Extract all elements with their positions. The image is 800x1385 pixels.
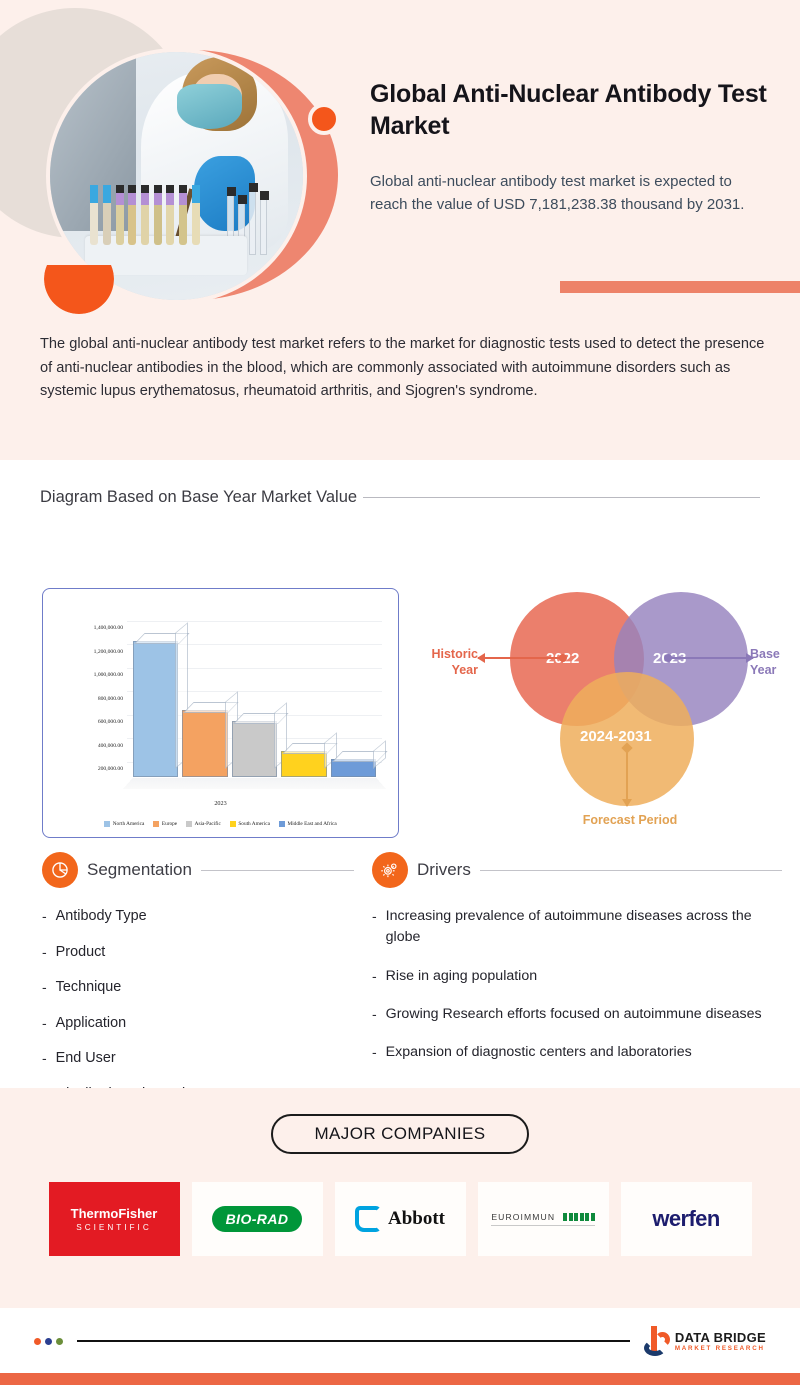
bar <box>281 751 326 777</box>
pie-chart-icon <box>42 852 78 888</box>
dash-bullet-icon: - <box>372 1042 377 1063</box>
data-bridge-logo-icon <box>644 1326 670 1356</box>
company-logos-row: ThermoFisher SCIENTIFIC BIO-RAD Abbott E… <box>0 1182 800 1256</box>
divider <box>201 870 354 871</box>
segmentation-list: -Antibody Type-Product-Technique-Applica… <box>42 906 354 1106</box>
segmentation-item: -Technique <box>42 977 354 999</box>
decorative-orange-halfcircle <box>44 244 114 314</box>
bar <box>331 759 376 777</box>
footer-dot <box>34 1338 41 1345</box>
segmentation-item: -Product <box>42 942 354 964</box>
dash-bullet-icon: - <box>372 1004 377 1025</box>
hero-text-block: Global Anti-Nuclear Antibody Test Market… <box>370 78 770 217</box>
legend-swatch <box>104 821 110 827</box>
legend-label: Europe <box>162 821 177 827</box>
legend-label: Asia-Pacific <box>195 821 221 827</box>
legend-swatch <box>153 821 159 827</box>
footer-divider <box>77 1340 630 1342</box>
legend-item: Europe <box>153 821 177 827</box>
drivers-item: -Rise in aging population <box>372 966 782 987</box>
chart-bars <box>127 623 382 777</box>
venn-caption-base: Base Year <box>750 646 796 679</box>
brand-tagline: MARKET RESEARCH <box>675 1345 766 1352</box>
y-tick-label: 600,000.00 <box>51 719 123 743</box>
dash-bullet-icon: - <box>372 906 377 949</box>
abbott-mark-icon <box>355 1206 381 1232</box>
data-bridge-logo: DATA BRIDGE MARKET RESEARCH <box>644 1326 766 1356</box>
chart-x-category-label: 2023 <box>43 800 398 807</box>
logo-label: werfen <box>652 1206 719 1232</box>
segmentation-item-label: End User <box>56 1048 116 1070</box>
dash-bullet-icon: - <box>42 1013 47 1035</box>
segmentation-title: Segmentation <box>87 860 192 880</box>
y-tick-label: 1,400,000.00 <box>51 625 123 649</box>
drivers-list: -Increasing prevalence of autoimmune dis… <box>372 906 782 1063</box>
major-companies-badge: MAJOR COMPANIES <box>271 1114 529 1154</box>
drivers-item-label: Rise in aging population <box>386 966 537 987</box>
venn-caption-forecast: Forecast Period <box>540 812 720 828</box>
legend-item: Asia-Pacific <box>186 821 221 827</box>
chart-bar-asia-pacific <box>232 721 277 777</box>
drivers-item: -Increasing prevalence of autoimmune dis… <box>372 906 782 949</box>
chart-bar-north-america <box>133 641 178 777</box>
drivers-item-label: Increasing prevalence of autoimmune dise… <box>386 906 782 949</box>
dash-bullet-icon: - <box>42 1048 47 1070</box>
dash-bullet-icon: - <box>42 906 47 928</box>
y-tick-label: 200,000.00 <box>51 766 123 790</box>
legend-item: South America <box>230 821 270 827</box>
bar-chart-card: 1,400,000.00 1,200,000.00 1,000,000.00 8… <box>42 588 399 838</box>
drivers-item-label: Growing Research efforts focused on auto… <box>386 1004 762 1025</box>
decorative-accent-bar <box>560 281 800 293</box>
logo-label: Abbott <box>388 1208 445 1230</box>
legend-label: Middle East and Africa <box>287 821 336 827</box>
segmentation-item: -Antibody Type <box>42 906 354 928</box>
legend-swatch <box>186 821 192 827</box>
y-tick-label: 800,000.00 <box>51 696 123 720</box>
dash-bullet-icon: - <box>42 942 47 964</box>
divider <box>480 870 782 871</box>
segmentation-drivers-row: Segmentation -Antibody Type-Product-Tech… <box>0 852 800 1120</box>
venn-arrow-left <box>478 657 564 659</box>
dash-bullet-icon: - <box>372 966 377 987</box>
venn-caption-historic: Historic Year <box>422 646 478 679</box>
logo-label: ThermoFisher <box>71 1206 158 1221</box>
drivers-item: -Expansion of diagnostic centers and lab… <box>372 1042 782 1063</box>
logo-bio-rad: BIO-RAD <box>192 1182 323 1256</box>
footer-dot <box>56 1338 63 1345</box>
logo-thermo-fisher: ThermoFisher SCIENTIFIC <box>49 1182 180 1256</box>
venn-diagram: 2022 2023 2024-2031 Historic Year Base Y… <box>420 580 790 842</box>
hero-subtitle: Global anti-nuclear antibody test market… <box>370 170 770 217</box>
chart-floor <box>123 778 386 789</box>
segmentation-item-label: Product <box>56 942 106 964</box>
footer-dot <box>45 1338 52 1345</box>
drivers-column: Drivers -Increasing prevalence of autoim… <box>372 852 800 1120</box>
chart-bar-europe <box>182 710 227 777</box>
y-tick-label: 1,200,000.00 <box>51 649 123 673</box>
venn-arrow-right <box>667 657 753 659</box>
logo-label: BIO-RAD <box>226 1211 289 1227</box>
diagram-section-header: Diagram Based on Base Year Market Value <box>0 488 800 507</box>
chart-plot-area <box>127 613 382 789</box>
chart-legend: North AmericaEuropeAsia-PacificSouth Ame… <box>43 821 398 827</box>
drivers-item: -Growing Research efforts focused on aut… <box>372 1004 782 1025</box>
chart-y-axis-labels: 1,400,000.00 1,200,000.00 1,000,000.00 8… <box>51 625 123 790</box>
segmentation-column: Segmentation -Antibody Type-Product-Tech… <box>0 852 372 1120</box>
legend-label: North America <box>113 821 145 827</box>
logo-abbott: Abbott <box>335 1182 466 1256</box>
decorative-orange-dot <box>308 103 340 135</box>
legend-swatch <box>230 821 236 827</box>
segmentation-item-label: Technique <box>56 977 122 999</box>
logo-werfen: werfen <box>621 1182 752 1256</box>
euroimmun-bars-icon <box>563 1213 595 1221</box>
dash-bullet-icon: - <box>42 977 47 999</box>
bottom-accent-bar <box>0 1373 800 1385</box>
venn-label-forecast-period: 2024-2031 <box>580 728 652 745</box>
hero-paragraph: The global anti-nuclear antibody test ma… <box>40 333 765 404</box>
y-tick-label: 1,000,000.00 <box>51 672 123 696</box>
chart-bar-south-america <box>281 751 326 777</box>
bar <box>182 710 227 777</box>
legend-item: North America <box>104 821 144 827</box>
brand-name: DATA BRIDGE <box>675 1330 766 1345</box>
footer-dots <box>34 1338 63 1345</box>
chart-bar-middle-east-and-africa <box>331 759 376 777</box>
drivers-item-label: Expansion of diagnostic centers and labo… <box>386 1042 692 1063</box>
y-tick-label: 400,000.00 <box>51 743 123 767</box>
bar <box>232 721 277 777</box>
diagram-section-title: Diagram Based on Base Year Market Value <box>40 488 357 507</box>
drivers-title: Drivers <box>417 860 471 880</box>
legend-item: Middle East and Africa <box>279 821 337 827</box>
hero-section: Global Anti-Nuclear Antibody Test Market… <box>0 0 800 460</box>
legend-label: South America <box>238 821 270 827</box>
segmentation-item: -Application <box>42 1013 354 1035</box>
legend-swatch <box>279 821 285 827</box>
logo-label: EUROIMMUN <box>491 1212 555 1222</box>
logo-sublabel: SCIENTIFIC <box>76 1223 152 1232</box>
page-title: Global Anti-Nuclear Antibody Test Market <box>370 78 770 142</box>
gears-icon <box>372 852 408 888</box>
bar <box>133 641 178 777</box>
venn-arrow-down <box>626 748 628 806</box>
major-companies-section: MAJOR COMPANIES ThermoFisher SCIENTIFIC … <box>0 1088 800 1308</box>
segmentation-item: -End User <box>42 1048 354 1070</box>
segmentation-item-label: Application <box>56 1013 126 1035</box>
logo-euroimmun: EUROIMMUN <box>478 1182 609 1256</box>
divider <box>363 497 760 498</box>
segmentation-item-label: Antibody Type <box>56 906 147 928</box>
